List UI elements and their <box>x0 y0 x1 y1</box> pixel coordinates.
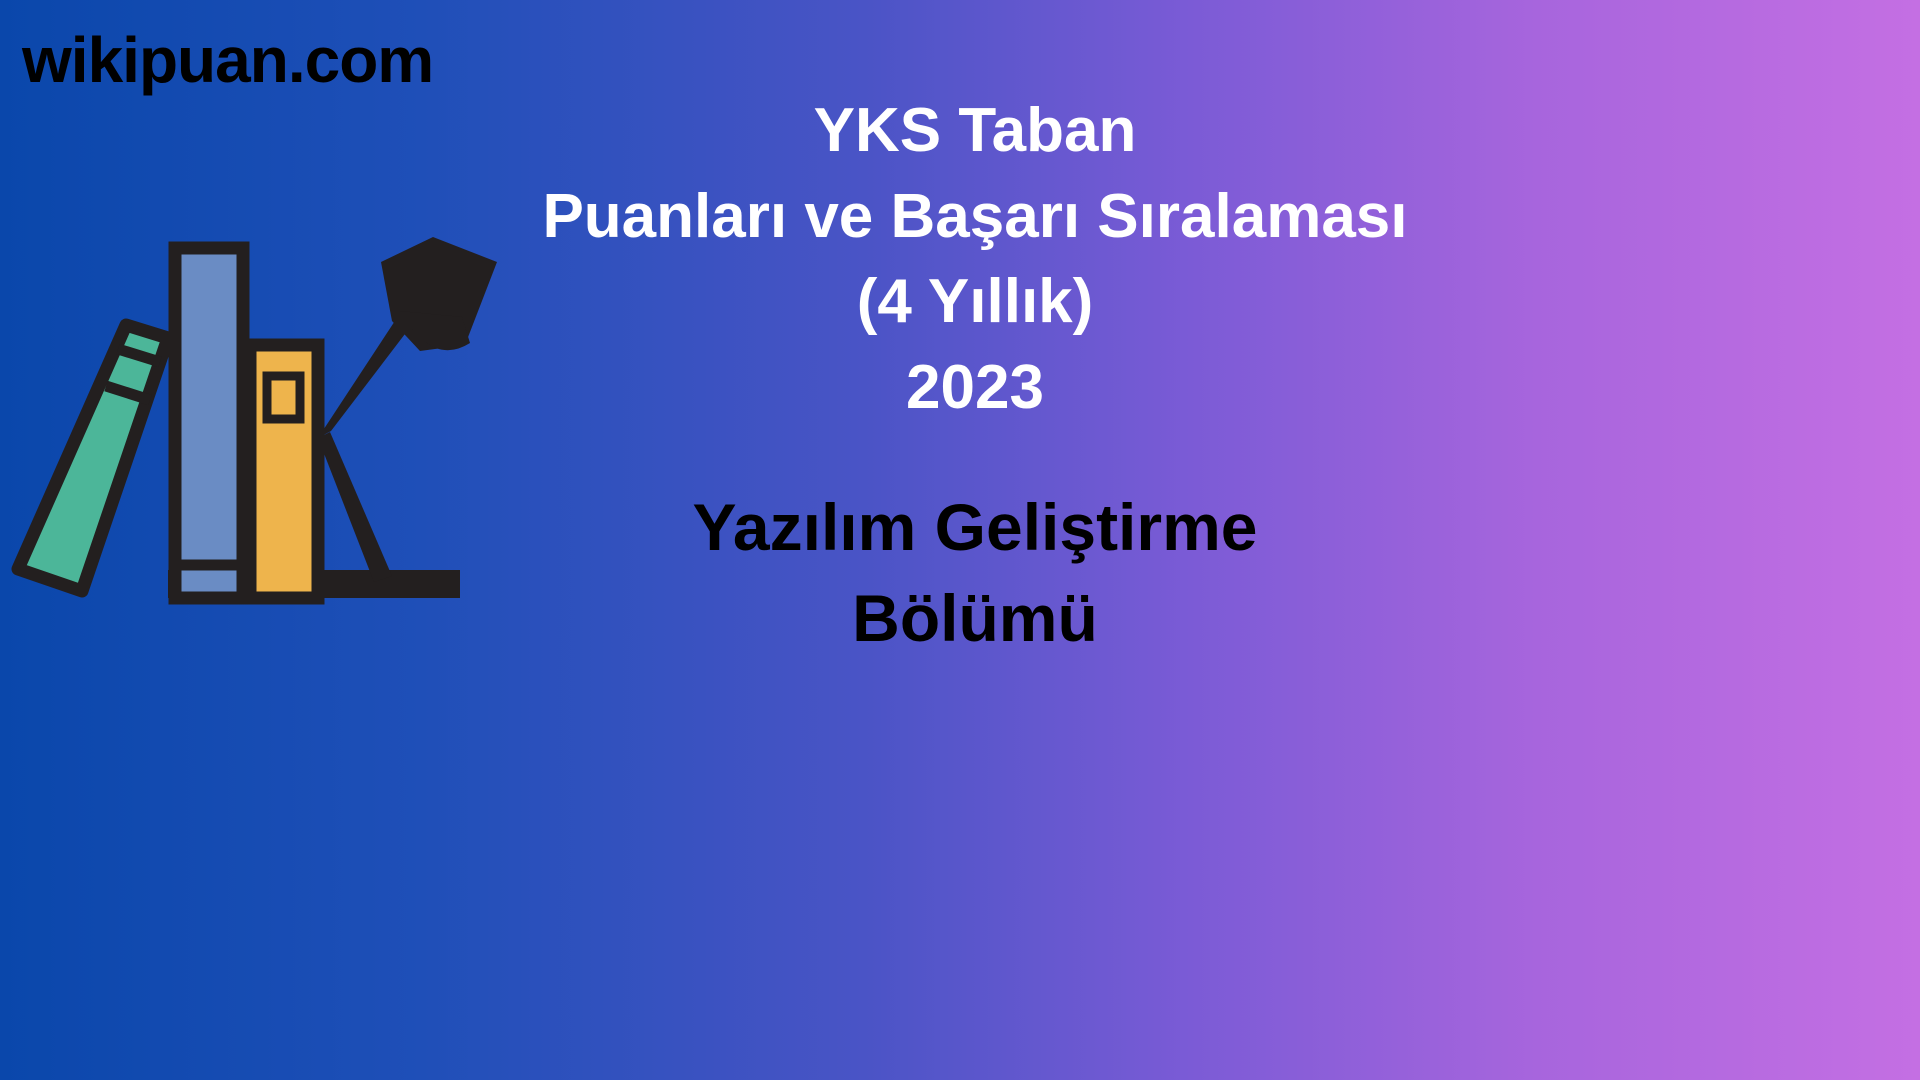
books-and-lamp-illustration <box>0 225 560 645</box>
illustration-svg <box>0 225 560 645</box>
site-watermark: wikipuan.com <box>22 28 433 92</box>
subtitle-line-1: Yazılım Geliştirme <box>500 482 1450 573</box>
leaning-green-book-icon <box>18 325 168 591</box>
title-line-3: (4 Yıllık) <box>500 259 1450 345</box>
title-line-4: 2023 <box>500 345 1450 431</box>
title-line-1: YKS Taban <box>500 88 1450 174</box>
tall-blue-book-icon <box>175 248 243 598</box>
poster-canvas: wikipuan.com <box>0 0 1920 1080</box>
page-subtitle: Yazılım Geliştirme Bölümü <box>500 482 1450 664</box>
page-title: YKS Taban Puanları ve Başarı Sıralaması … <box>500 88 1450 430</box>
title-line-2: Puanları ve Başarı Sıralaması <box>500 174 1450 260</box>
subtitle-line-2: Bölümü <box>500 573 1450 664</box>
desk-lamp-icon <box>318 237 497 582</box>
yellow-book-icon <box>250 345 318 598</box>
poster-text-block: YKS Taban Puanları ve Başarı Sıralaması … <box>500 88 1450 664</box>
